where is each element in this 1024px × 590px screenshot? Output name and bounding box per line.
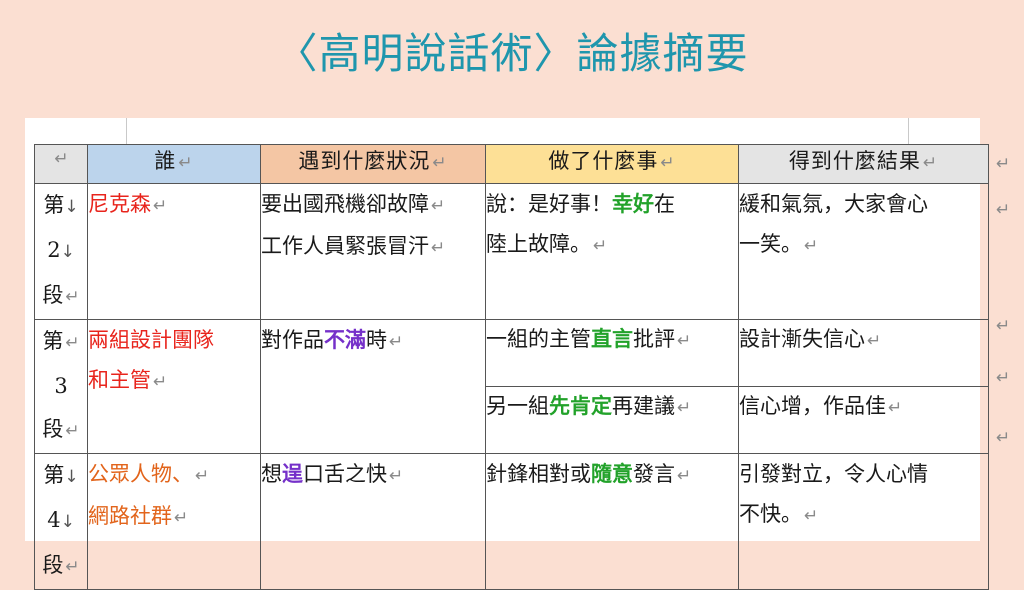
pilcrow-icon: ↵ (172, 508, 188, 528)
header-cell-who: 誰↵ (88, 145, 261, 184)
action-cell-row2-sub2: 另一組先肯定再建議↵ (486, 387, 739, 454)
row-end-pilcrow-icon: ↵ (996, 154, 1010, 174)
table-row: 第↓ 4↓ 段↵ 公眾人物、↵ 網路社群↵ 想逞口舌之快↵ 針鋒相對或隨意發言↵ (35, 454, 989, 590)
result-line: 緩和氣氛，大家會心 (739, 184, 988, 224)
action-cell-row3: 針鋒相對或隨意發言↵ (486, 454, 739, 590)
pilcrow-icon: ↵ (63, 557, 79, 577)
pilcrow-icon: ↵ (151, 196, 167, 216)
action-highlight: 先肯定 (549, 393, 612, 418)
row-end-pilcrow-icon: ↵ (996, 200, 1010, 220)
header-cell-situation: 遇到什麼狀況↵ (261, 145, 486, 184)
down-arrow-icon: ↓ (64, 467, 78, 487)
down-arrow-icon: ↓ (61, 512, 75, 532)
who-line: 公眾人物、↵ (88, 454, 260, 496)
result-cell-row1: 緩和氣氛，大家會心 一笑。↵ (739, 184, 989, 320)
segment-cell-row1: 第↓ 2↓ 段↵ (35, 184, 88, 320)
pilcrow-icon: ↵ (429, 238, 445, 258)
pilcrow-icon: ↵ (886, 398, 902, 418)
who-cell-row1: 尼克森↵ (88, 184, 261, 320)
action-cell-row2-sub1: 一組的主管直言批評↵ (486, 320, 739, 387)
segment-line: 2↓ (35, 229, 87, 274)
pilcrow-icon: ↵ (387, 332, 403, 352)
down-arrow-icon: ↓ (61, 242, 75, 262)
pilcrow-icon: ↵ (658, 153, 675, 173)
segment-line: 段↵ (35, 274, 87, 319)
pilcrow-icon: ↵ (675, 398, 691, 418)
action-highlight: 幸好 (612, 191, 654, 216)
action-line: 另一組先肯定再建議↵ (486, 387, 738, 427)
situation-cell-row1: 要出國飛機卻故障↵ 工作人員緊張冒汗↵ (261, 184, 486, 320)
row-end-pilcrow-icon: ↵ (996, 316, 1010, 336)
document-page: ↵ 誰↵ 遇到什麼狀況↵ 做了什麼事↵ 得到什麼結果↵ (25, 118, 980, 541)
segment-cell-row2: 第↵ 3 段↵ (35, 320, 88, 454)
action-line: 針鋒相對或隨意發言↵ (486, 454, 738, 496)
action-line: 一組的主管直言批評↵ (486, 320, 738, 360)
header-cell-blank: ↵ (35, 145, 88, 184)
pilcrow-icon: ↵ (865, 331, 881, 351)
pilcrow-icon: ↵ (63, 421, 79, 441)
result-line: 不快。↵ (739, 494, 988, 536)
header-cell-action: 做了什麼事↵ (486, 145, 739, 184)
pilcrow-icon: ↵ (675, 466, 691, 486)
segment-line: 4↓ (35, 499, 87, 544)
down-arrow-icon: ↓ (64, 197, 78, 217)
pilcrow-icon: ↵ (802, 236, 818, 256)
pilcrow-icon: ↵ (429, 196, 445, 216)
segment-line: 3 (35, 365, 87, 408)
header-label-who: 誰 (154, 149, 176, 173)
pilcrow-icon: ↵ (387, 466, 403, 486)
situation-line: 要出國飛機卻故障↵ (261, 184, 485, 226)
header-label-action: 做了什麼事 (548, 149, 658, 173)
pilcrow-icon: ↵ (52, 149, 69, 169)
argument-summary-table: ↵ 誰↵ 遇到什麼狀況↵ 做了什麼事↵ 得到什麼結果↵ (34, 144, 989, 590)
pilcrow-icon: ↵ (193, 466, 209, 486)
segment-line: 第↓ (35, 454, 87, 499)
segment-cell-row3: 第↓ 4↓ 段↵ (35, 454, 88, 590)
result-cell-row3: 引發對立，令人心情 不快。↵ (739, 454, 989, 590)
who-line: 和主管↵ (88, 360, 260, 402)
result-line: 信心增，作品佳↵ (739, 387, 988, 427)
segment-line: 段↵ (35, 408, 87, 453)
result-line: 一笑。↵ (739, 224, 988, 266)
action-line: 說：是好事！幸好在 (486, 184, 738, 224)
who-line: 網路社群↵ (88, 496, 260, 538)
who-text: 尼克森 (88, 192, 151, 216)
action-highlight: 隨意 (591, 461, 633, 486)
action-highlight: 直言 (591, 326, 633, 351)
row-end-pilcrow-icon: ↵ (996, 368, 1010, 388)
situation-cell-row3: 想逞口舌之快↵ (261, 454, 486, 590)
segment-line: 段↵ (35, 544, 87, 589)
table-header-row: ↵ 誰↵ 遇到什麼狀況↵ 做了什麼事↵ 得到什麼結果↵ (35, 145, 989, 184)
situation-cell-row2: 對作品不滿時↵ (261, 320, 486, 454)
who-line: 兩組設計團隊 (88, 320, 260, 360)
segment-line: 第↵ (35, 320, 87, 365)
action-cell-row1: 說：是好事！幸好在 陸上故障。↵ (486, 184, 739, 320)
pilcrow-icon: ↵ (921, 153, 938, 173)
header-label-result: 得到什麼結果 (789, 149, 921, 173)
result-line: 引發對立，令人心情 (739, 454, 988, 494)
header-label-situation: 遇到什麼狀況 (298, 149, 430, 173)
pilcrow-icon: ↵ (176, 153, 193, 173)
who-cell-row2: 兩組設計團隊 和主管↵ (88, 320, 261, 454)
pilcrow-icon: ↵ (675, 331, 691, 351)
page-title: 〈高明說話術〉論據摘要 (0, 27, 1024, 81)
pilcrow-icon: ↵ (63, 287, 79, 307)
slide-canvas: 〈高明說話術〉論據摘要 ↵ 誰↵ 遇到什麼狀況↵ (0, 0, 1024, 576)
pilcrow-icon: ↵ (802, 506, 818, 526)
result-cell-row2-sub1: 設計漸失信心↵ (739, 320, 989, 387)
situation-highlight: 不滿 (324, 327, 366, 352)
table-row: 第↵ 3 段↵ 兩組設計團隊 和主管↵ 對作品不滿時↵ 一組的主管直言批評↵ (35, 320, 989, 387)
result-cell-row2-sub2: 信心增，作品佳↵ (739, 387, 989, 454)
pilcrow-icon: ↵ (151, 372, 167, 392)
pilcrow-icon: ↵ (430, 153, 447, 173)
pilcrow-icon: ↵ (591, 236, 607, 256)
who-cell-row3: 公眾人物、↵ 網路社群↵ (88, 454, 261, 590)
row-end-pilcrow-icon: ↵ (996, 428, 1010, 448)
situation-line: 想逞口舌之快↵ (261, 454, 485, 496)
situation-highlight: 逞 (282, 461, 303, 486)
situation-line: 對作品不滿時↵ (261, 320, 485, 362)
table-row: 第↓ 2↓ 段↵ 尼克森↵ 要出國飛機卻故障↵ 工作人員緊張冒汗↵ 說：是好事！… (35, 184, 989, 320)
situation-line: 工作人員緊張冒汗↵ (261, 226, 485, 268)
segment-line: 第↓ (35, 184, 87, 229)
result-line: 設計漸失信心↵ (739, 320, 988, 360)
pilcrow-icon: ↵ (63, 333, 79, 353)
action-line: 陸上故障。↵ (486, 224, 738, 266)
header-cell-result: 得到什麼結果↵ (739, 145, 989, 184)
